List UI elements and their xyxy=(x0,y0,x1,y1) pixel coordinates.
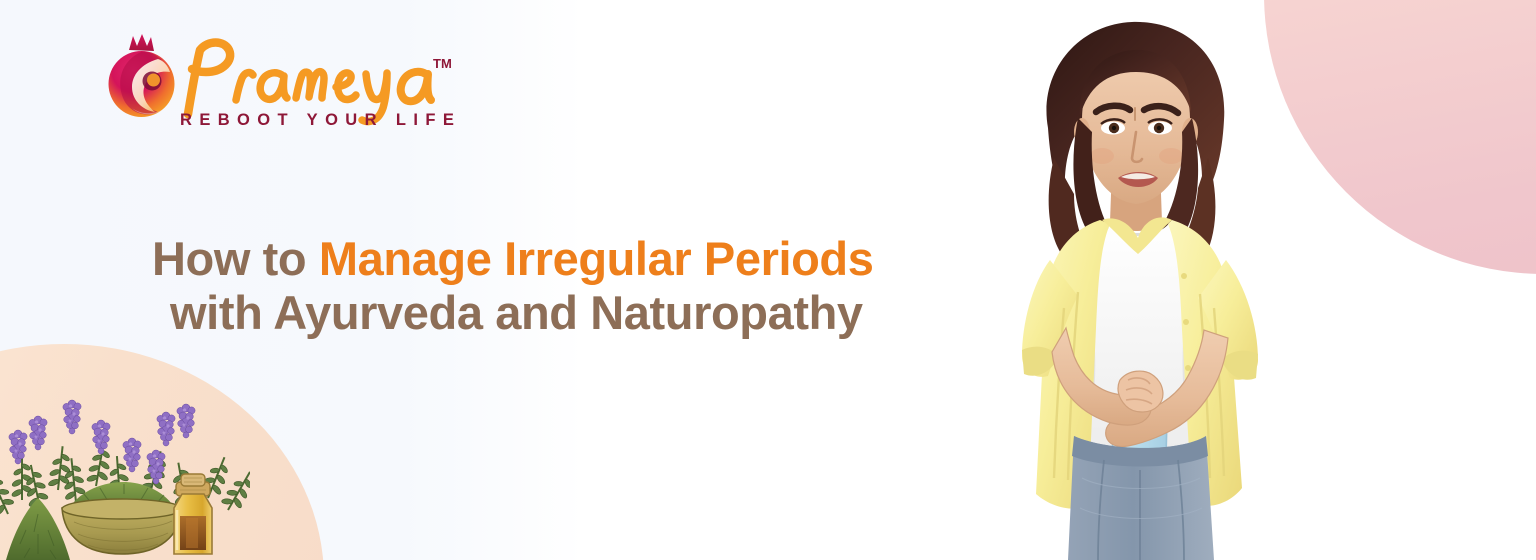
trademark-symbol: TM xyxy=(433,56,452,71)
headline-line-2: with Ayurveda and Naturopathy xyxy=(152,286,972,340)
promo-banner: TM REBOOT YOUR LIFE How to Manage Irregu… xyxy=(0,0,1536,560)
green-powder-mound xyxy=(6,498,70,560)
brand-wordmark xyxy=(188,43,431,122)
headline-line-1-highlight: Manage Irregular Periods xyxy=(319,232,874,285)
brand-tagline: REBOOT YOUR LIFE xyxy=(180,111,461,129)
brand-logo[interactable]: TM REBOOT YOUR LIFE xyxy=(96,28,466,132)
headline-line-1-prefix: How to xyxy=(152,232,319,285)
crown-icon xyxy=(129,34,154,51)
pomegranate-icon xyxy=(109,51,175,117)
amber-oil-bottle xyxy=(174,474,212,554)
headline: How to Manage Irregular Periods with Ayu… xyxy=(152,232,972,340)
ayurvedic-herbs-illustration xyxy=(0,382,250,560)
jeans xyxy=(1068,436,1214,560)
woman-with-abdominal-pain xyxy=(992,8,1322,560)
headline-line-1: How to Manage Irregular Periods xyxy=(152,232,972,286)
